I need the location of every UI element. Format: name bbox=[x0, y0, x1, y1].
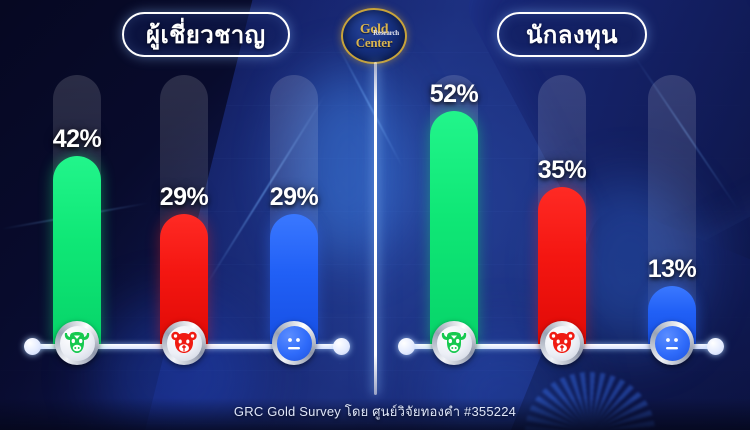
medallion-inner bbox=[277, 326, 312, 361]
medallion-bear-icon bbox=[540, 321, 584, 365]
medallion-bull-icon bbox=[432, 321, 476, 365]
baseline-cap-right-end bbox=[707, 338, 724, 355]
grc-logo: Gold Research Center bbox=[341, 8, 407, 64]
panel-title-experts: ผู้เชี่ยวชาญ bbox=[122, 12, 290, 57]
bar-bullish bbox=[430, 111, 478, 344]
bar-group-right-neutral: 13%Neutral bbox=[648, 75, 696, 344]
bar-value-label: 13% bbox=[617, 255, 727, 284]
bar-value-label: 52% bbox=[399, 80, 509, 109]
medallion-bear-icon bbox=[162, 321, 206, 365]
panel-title-investors: นักลงทุน bbox=[497, 12, 647, 57]
medallion-inner bbox=[167, 326, 202, 361]
medallion-neutral-face-icon bbox=[650, 321, 694, 365]
bar-group-left-neutral: 29%Neutral bbox=[270, 75, 318, 344]
neutral-face-icon bbox=[658, 330, 686, 356]
neutral-face-icon bbox=[280, 330, 308, 356]
logo-center-text: Center bbox=[356, 36, 392, 49]
bar-value-label: 42% bbox=[22, 125, 132, 154]
baseline-cap-left-end bbox=[333, 338, 350, 355]
bar-group-right-bearish: 35%Bearish bbox=[538, 75, 586, 344]
medallion-inner bbox=[437, 326, 472, 361]
baseline-cap-left-start bbox=[24, 338, 41, 355]
bar-value-label: 29% bbox=[129, 183, 239, 212]
medallion-inner bbox=[60, 326, 95, 361]
medallion-inner bbox=[545, 326, 580, 361]
bar-group-left-bullish: 42%Bullish bbox=[53, 75, 101, 344]
survey-caption: GRC Gold Survey โดย ศูนย์วิจัยทองคำ #355… bbox=[0, 401, 750, 422]
bar-value-label: 35% bbox=[507, 156, 617, 185]
bear-icon bbox=[548, 330, 576, 356]
bar-group-right-bullish: 52%Bullish bbox=[430, 75, 478, 344]
medallion-neutral-face-icon bbox=[272, 321, 316, 365]
logo-research-text: Research bbox=[373, 29, 399, 37]
center-divider bbox=[374, 62, 377, 395]
bull-icon bbox=[63, 330, 91, 356]
baseline-cap-right-start bbox=[398, 338, 415, 355]
bar-group-left-bearish: 29%Bearish bbox=[160, 75, 208, 344]
bar-bullish bbox=[53, 156, 101, 344]
bar-value-label: 29% bbox=[239, 183, 349, 212]
gold-survey-infographic: ผู้เชี่ยวชาญ นักลงทุน Gold Research Cent… bbox=[0, 0, 750, 430]
bear-icon bbox=[170, 330, 198, 356]
medallion-bull-icon bbox=[55, 321, 99, 365]
bull-icon bbox=[440, 330, 468, 356]
medallion-inner bbox=[655, 326, 690, 361]
